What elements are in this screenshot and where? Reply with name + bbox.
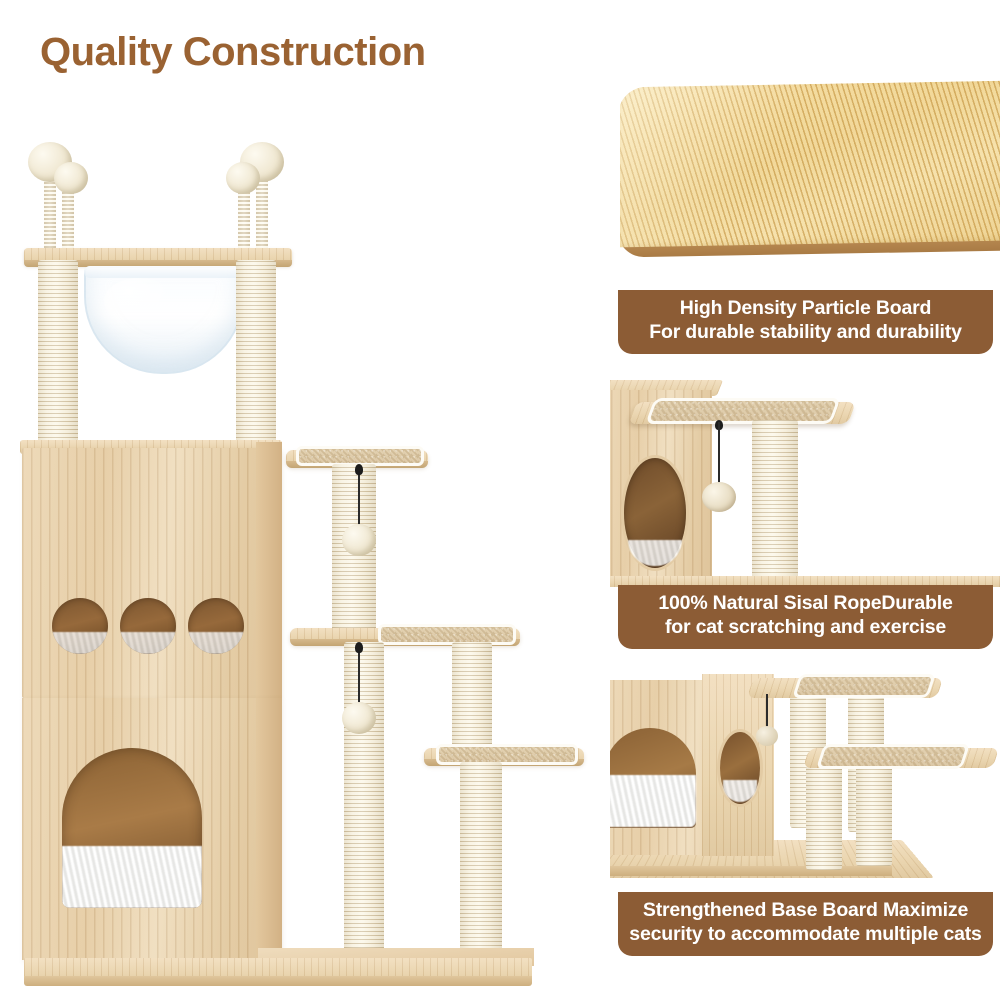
pom-pom-left-b xyxy=(54,162,88,194)
peek-hole-3 xyxy=(188,598,244,654)
caption-particle-board: High Density Particle Board For durable … xyxy=(618,290,993,354)
platform-step-3-carpet-pad xyxy=(436,744,578,765)
detail-toy-string xyxy=(718,422,720,484)
toy-string-knot-2 xyxy=(355,642,363,653)
condo-plush-bed xyxy=(62,846,202,908)
detail-pom-pom-toy xyxy=(702,482,736,512)
acrylic-bowl-rim xyxy=(84,266,240,278)
pom-pom-toy-2 xyxy=(342,702,376,734)
detail3-sisal-post-4 xyxy=(856,766,892,866)
feature-panel-base-board: Strengthened Base Board Maximize securit… xyxy=(610,670,1000,970)
bedding-in-hole-1 xyxy=(52,632,108,654)
detail-platform-carpet-pad xyxy=(645,398,840,424)
upper-box xyxy=(22,448,280,698)
detail3-sisal-post-3 xyxy=(806,766,842,870)
board-mask-left xyxy=(610,78,620,293)
detail-sisal-post xyxy=(752,420,798,585)
caption-line-2: security to accommodate multiple cats xyxy=(622,923,989,947)
sisal-post-top-left xyxy=(38,260,78,450)
pom-pom-right-b xyxy=(226,162,260,194)
base-board-detail-illustration xyxy=(610,670,1000,895)
base-board-front-edge xyxy=(24,976,532,986)
bedding-in-hole-3 xyxy=(188,632,244,654)
bedding-in-hole-2 xyxy=(120,632,176,654)
toy-string-2 xyxy=(358,644,360,706)
detail3-toy-string xyxy=(766,694,768,728)
detail3-pom-pom-toy xyxy=(756,726,778,746)
peek-hole-1 xyxy=(52,598,108,654)
sisal-detail-illustration xyxy=(610,372,1000,587)
detail3-upper-platform-pad xyxy=(792,674,936,698)
main-product-photo xyxy=(0,120,600,990)
peek-hole-2 xyxy=(120,598,176,654)
detail3-base-board-edge xyxy=(610,866,892,876)
caption-line-1: Strengthened Base Board Maximize xyxy=(622,899,989,923)
detail3-plush-bed xyxy=(610,775,696,827)
sisal-rope-post-and-platform-photo xyxy=(610,372,1000,587)
sisal-post-step-3-upper xyxy=(452,642,492,752)
platform-step-1-carpet-pad xyxy=(296,446,424,466)
toy-string-knot-1 xyxy=(355,464,363,475)
sisal-post-step-2 xyxy=(344,642,384,968)
acrylic-bowl-highlight xyxy=(104,278,174,324)
detail3-mid-platform-pad xyxy=(816,744,970,769)
condo-arch-opening xyxy=(62,748,202,908)
board-illustration xyxy=(610,78,1000,293)
pom-pom-toy-1 xyxy=(342,524,376,556)
sisal-post-step-4 xyxy=(460,762,502,970)
caption-line-1: 100% Natural Sisal RopeDurable xyxy=(622,592,989,616)
toy-string-1 xyxy=(358,466,360,526)
caption-line-2: For durable stability and durability xyxy=(622,321,989,345)
upper-box-side xyxy=(256,442,282,698)
infographic-page: Quality Construction xyxy=(0,0,1000,1000)
caption-base-board: Strengthened Base Board Maximize securit… xyxy=(618,892,993,956)
lower-condo-side xyxy=(256,698,282,960)
strengthened-base-board-photo xyxy=(610,670,1000,895)
sisal-post-top-right xyxy=(236,260,276,450)
platform-step-2-carpet-pad xyxy=(378,624,516,645)
caption-line-1: High Density Particle Board xyxy=(622,297,989,321)
high-density-particle-board-corner-photo xyxy=(610,78,1000,293)
acrylic-bowl xyxy=(84,266,244,374)
board-top-sheen xyxy=(618,81,1000,248)
caption-sisal-rope: 100% Natural Sisal RopeDurable for cat s… xyxy=(618,585,993,649)
page-title: Quality Construction xyxy=(40,30,426,75)
feature-panel-particle-board: High Density Particle Board For durable … xyxy=(610,78,1000,368)
feature-panel-sisal-rope: 100% Natural Sisal RopeDurable for cat s… xyxy=(610,372,1000,667)
caption-line-2: for cat scratching and exercise xyxy=(622,616,989,640)
